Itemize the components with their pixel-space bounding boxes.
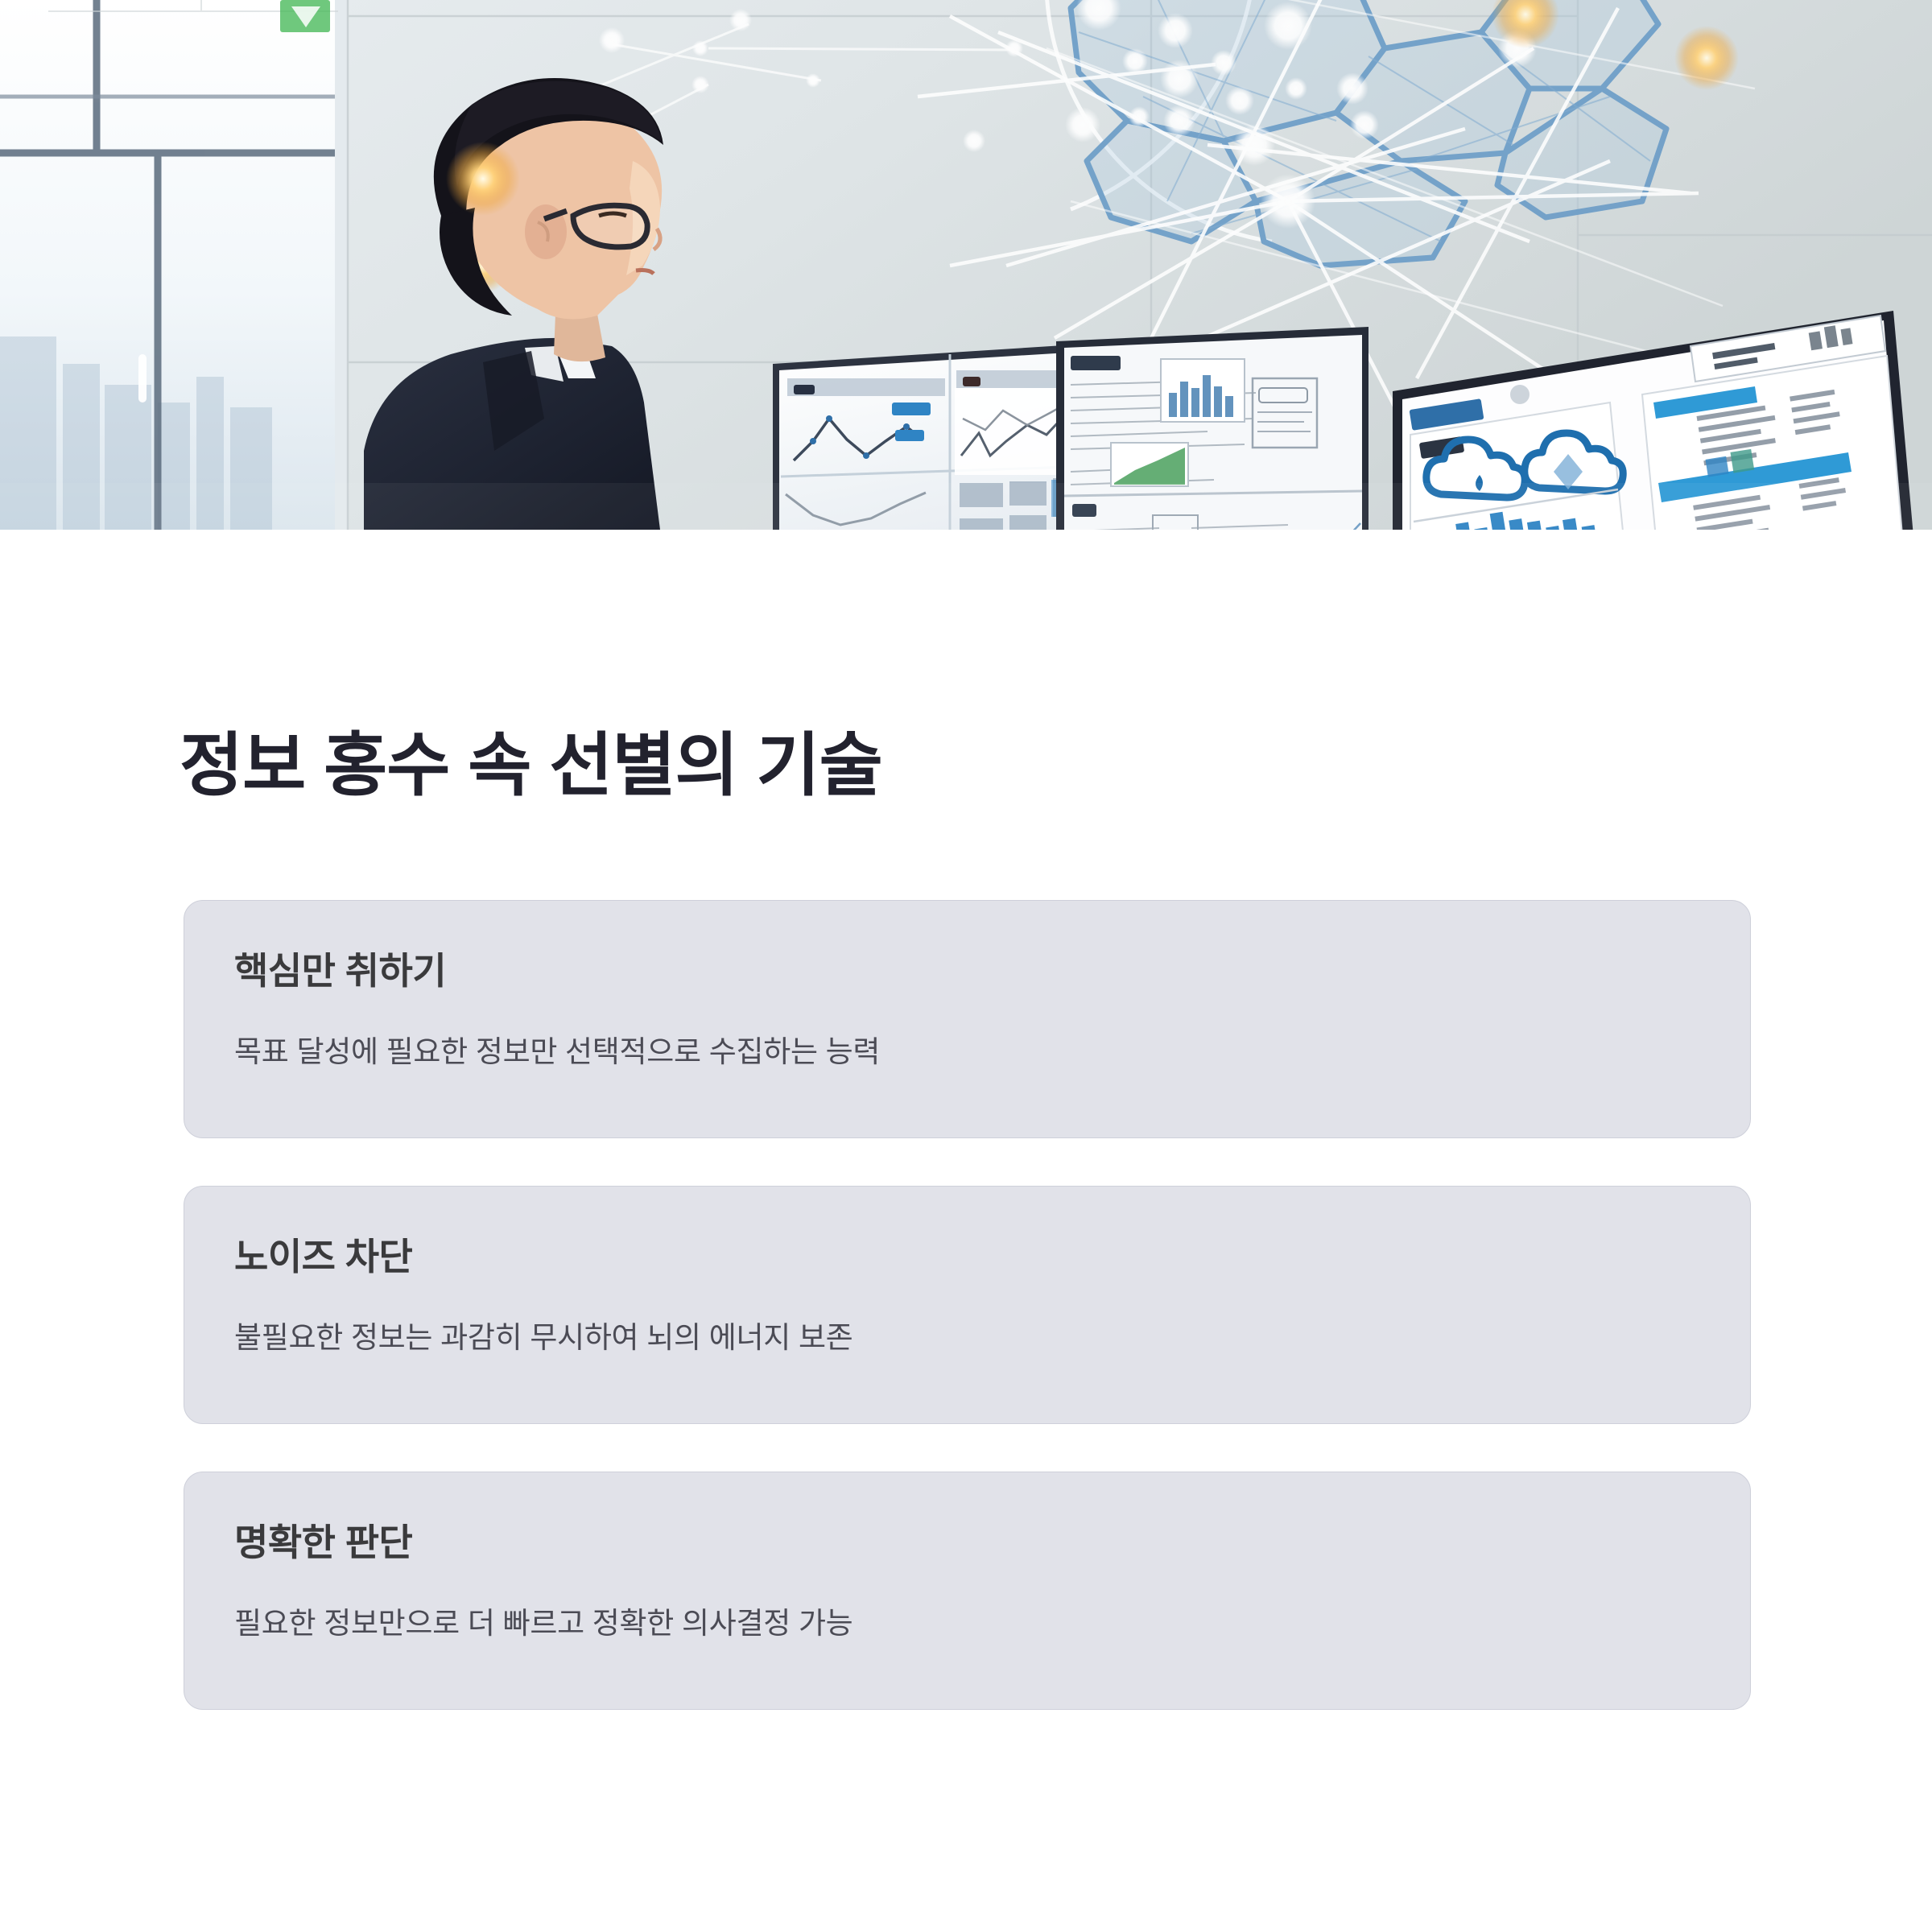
feature-card[interactable]: 핵심만 취하기 목표 달성에 필요한 정보만 선택적으로 수집하는 능력	[184, 900, 1751, 1138]
office-window	[0, 0, 348, 530]
slide-root: 정보 홍수 속 선별의 기술 핵심만 취하기 목표 달성에 필요한 정보만 선택…	[0, 0, 1932, 1932]
hero-image	[0, 0, 1932, 530]
feature-card-description: 필요한 정보만으로 더 빠르고 정확한 의사결정 가능	[234, 1563, 1750, 1644]
feature-card-title: 노이즈 차단	[234, 1236, 1750, 1278]
feature-card-description: 목표 달성에 필요한 정보만 선택적으로 수집하는 능력	[234, 992, 1750, 1072]
feature-card-description: 불필요한 정보는 과감히 무시하여 뇌의 에너지 보존	[234, 1278, 1750, 1358]
feature-card-title: 핵심만 취하기	[234, 951, 1750, 992]
feature-card-title: 명확한 판단	[234, 1522, 1750, 1563]
page-title: 정보 홍수 속 선별의 기술	[180, 729, 882, 803]
feature-card[interactable]: 명확한 판단 필요한 정보만으로 더 빠르고 정확한 의사결정 가능	[184, 1472, 1751, 1710]
hero-illustration	[0, 0, 1932, 530]
feature-card-list: 핵심만 취하기 목표 달성에 필요한 정보만 선택적으로 수집하는 능력 노이즈…	[184, 900, 1751, 1710]
feature-card[interactable]: 노이즈 차단 불필요한 정보는 과감히 무시하여 뇌의 에너지 보존	[184, 1186, 1751, 1424]
